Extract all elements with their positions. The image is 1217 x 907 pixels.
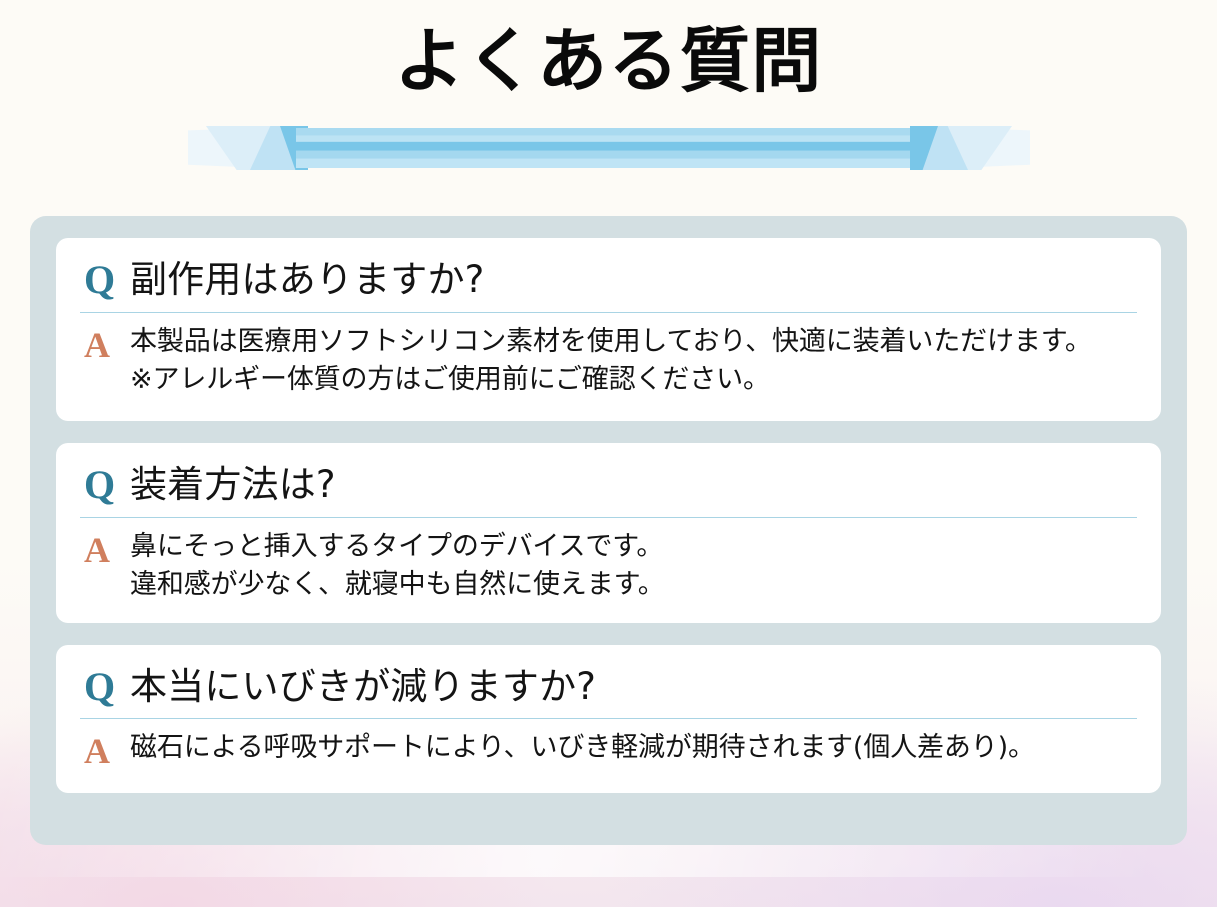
faq-item[interactable]: Q 本当にいびきが減りますか? A 磁石による呼吸サポートにより、いびき軽減が期… <box>56 645 1161 794</box>
faq-answer-line: 磁石による呼吸サポートにより、いびき軽減が期待されます(個人差あり)。 <box>130 729 1035 767</box>
faq-answer-line: 本製品は医療用ソフトシリコン素材を使用しており、快適に装着いただけます。 <box>130 323 1092 361</box>
faq-question-text: 副作用はありますか? <box>130 258 485 302</box>
question-mark-letter: Q <box>78 463 130 505</box>
faq-item[interactable]: Q 装着方法は? A 鼻にそっと挿入するタイプのデバイスです。 違和感が少なく、… <box>56 443 1161 622</box>
faq-answer-text: 本製品は医療用ソフトシリコン素材を使用しており、快適に装着いただけます。 ※アレ… <box>130 323 1092 400</box>
faq-question-text: 装着方法は? <box>130 463 336 507</box>
answer-mark-letter: A <box>78 729 130 769</box>
ribbon-body <box>296 128 922 168</box>
ribbon-tail-left <box>188 126 308 170</box>
ribbon-divider <box>188 120 1030 176</box>
faq-answer-line: ※アレルギー体質の方はご使用前にご確認ください。 <box>130 361 1092 399</box>
faq-question-text: 本当にいびきが減りますか? <box>130 665 596 709</box>
faq-question-row: Q 副作用はありますか? <box>78 252 1139 312</box>
faq-answer-line: 違和感が少なく、就寝中も自然に使えます。 <box>130 566 665 604</box>
faq-answer-text: 鼻にそっと挿入するタイプのデバイスです。 違和感が少なく、就寝中も自然に使えます… <box>130 528 665 605</box>
answer-mark-letter: A <box>78 528 130 568</box>
answer-mark-letter: A <box>78 323 130 363</box>
faq-question-row: Q 装着方法は? <box>78 457 1139 517</box>
faq-answer-line: 鼻にそっと挿入するタイプのデバイスです。 <box>130 528 665 566</box>
faq-answer-row: A 本製品は医療用ソフトシリコン素材を使用しており、快適に装着いただけます。 ※… <box>78 313 1139 406</box>
question-mark-letter: Q <box>78 665 130 707</box>
faq-answer-text: 磁石による呼吸サポートにより、いびき軽減が期待されます(個人差あり)。 <box>130 729 1035 767</box>
question-mark-letter: Q <box>78 258 130 300</box>
faq-panel: Q 副作用はありますか? A 本製品は医療用ソフトシリコン素材を使用しており、快… <box>30 216 1187 845</box>
faq-item[interactable]: Q 副作用はありますか? A 本製品は医療用ソフトシリコン素材を使用しており、快… <box>56 238 1161 421</box>
ribbon-tail-right <box>910 126 1030 170</box>
faq-answer-row: A 磁石による呼吸サポートにより、いびき軽減が期待されます(個人差あり)。 <box>78 719 1139 777</box>
page-title: よくある質問 <box>0 22 1217 100</box>
faq-question-row: Q 本当にいびきが減りますか? <box>78 659 1139 719</box>
faq-answer-row: A 鼻にそっと挿入するタイプのデバイスです。 違和感が少なく、就寝中も自然に使え… <box>78 518 1139 607</box>
